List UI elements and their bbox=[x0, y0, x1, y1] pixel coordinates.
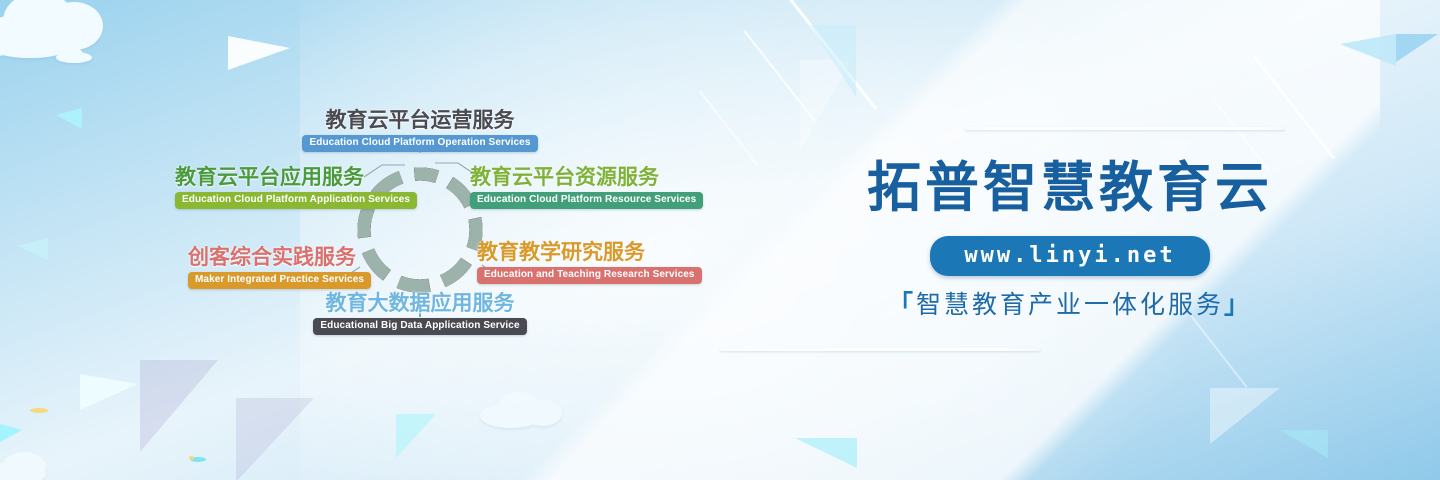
dot-decoration bbox=[30, 408, 48, 413]
node-label-cn: 教育大数据应用服务 bbox=[270, 293, 570, 314]
node-label-en: Education and Teaching Research Services bbox=[477, 267, 702, 284]
triangle-decoration bbox=[18, 238, 48, 260]
dot-decoration bbox=[189, 456, 194, 460]
dot-decoration bbox=[190, 457, 206, 462]
node-maker-practice-services[interactable]: 创客综合实践服务 Maker Integrated Practice Servi… bbox=[188, 247, 371, 289]
brand-panel: 拓普智慧教育云 www.linyi.net 「智慧教育产业一体化服务」 bbox=[700, 0, 1440, 480]
promo-banner: 教育云平台运营服务 Education Cloud Platform Opera… bbox=[0, 0, 1440, 480]
triangle-decoration bbox=[396, 414, 436, 458]
slogan-text: 智慧教育产业一体化服务 bbox=[916, 291, 1224, 319]
node-label-en: Education Cloud Platform Application Ser… bbox=[175, 192, 417, 209]
triangle-decoration bbox=[140, 360, 218, 452]
node-label-en: Maker Integrated Practice Services bbox=[188, 272, 371, 289]
node-label-en: Education Cloud Platform Operation Servi… bbox=[302, 135, 537, 152]
cloud-top-left bbox=[0, 0, 175, 58]
node-operation-services[interactable]: 教育云平台运营服务 Education Cloud Platform Opera… bbox=[270, 110, 570, 152]
divider-top bbox=[965, 127, 1285, 130]
triangle-decoration bbox=[236, 398, 314, 480]
brand-slogan: 「智慧教育产业一体化服务」 bbox=[700, 293, 1440, 318]
website-url-wrap: www.linyi.net bbox=[700, 236, 1440, 276]
cloud-bottom-left bbox=[0, 452, 72, 480]
slogan-close-bracket: 」 bbox=[1224, 291, 1252, 319]
website-url-button[interactable]: www.linyi.net bbox=[930, 236, 1209, 276]
divider-bottom bbox=[720, 348, 1040, 351]
node-label-en: Educational Big Data Application Service bbox=[313, 318, 526, 335]
node-big-data-services[interactable]: 教育大数据应用服务 Educational Big Data Applicati… bbox=[270, 293, 570, 335]
node-label-cn: 教育云平台运营服务 bbox=[270, 110, 570, 131]
triangle-decoration bbox=[228, 36, 290, 70]
triangle-decoration bbox=[56, 108, 82, 129]
cloud-small-left bbox=[56, 48, 92, 62]
node-application-services[interactable]: 教育云平台应用服务 Education Cloud Platform Appli… bbox=[175, 167, 417, 209]
brand-title: 拓普智慧教育云 bbox=[700, 160, 1440, 214]
service-wheel-diagram: 教育云平台运营服务 Education Cloud Platform Opera… bbox=[150, 105, 690, 355]
node-label-cn: 教育云平台应用服务 bbox=[175, 167, 417, 188]
slogan-open-bracket: 「 bbox=[888, 291, 916, 319]
triangle-decoration bbox=[80, 374, 138, 410]
node-label-en: Education Cloud Platform Resource Servic… bbox=[470, 192, 703, 209]
node-label-cn: 创客综合实践服务 bbox=[188, 247, 371, 268]
triangle-decoration bbox=[0, 424, 22, 442]
